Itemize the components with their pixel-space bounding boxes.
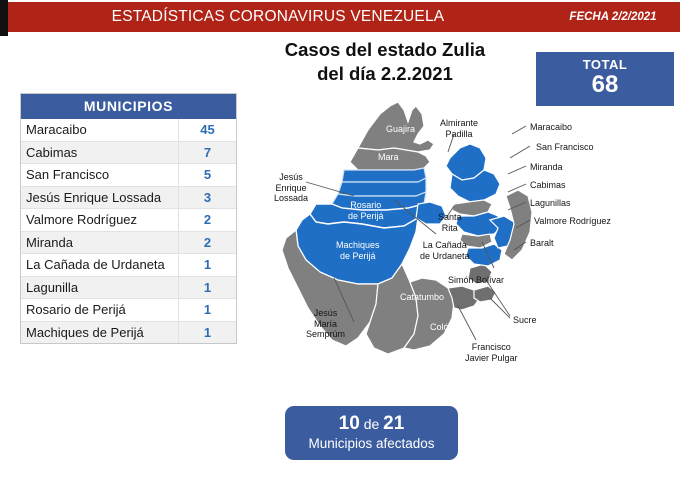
map-label: Almirante Padilla (440, 118, 478, 139)
municipio-count: 2 (178, 209, 236, 231)
affected-municipios-box: 10 de 21 Municipios afectados (285, 406, 458, 460)
map-label: Simón Bolívar (448, 275, 504, 286)
affected-caption: Municipios afectados (285, 435, 458, 453)
municipio-name: Maracaibo (21, 122, 178, 137)
municipio-count: 1 (178, 322, 236, 344)
table-row: San Francisco5 (21, 164, 236, 187)
municipio-count: 1 (178, 299, 236, 321)
municipio-count: 1 (178, 254, 236, 276)
leader-san-francisco (510, 146, 530, 158)
municipios-table-header: MUNICIPIOS (21, 94, 236, 119)
municipios-table-body: Maracaibo45Cabimas7San Francisco5Jesús E… (21, 119, 236, 343)
leader-maracaibo (512, 126, 526, 134)
table-row: Rosario de Perijá1 (21, 299, 236, 322)
municipio-name: Cabimas (21, 145, 178, 160)
municipio-name: Jesús Enrique Lossada (21, 190, 178, 205)
total-label: TOTAL (536, 57, 674, 72)
map-label: Jesús María Semprúm (306, 308, 345, 340)
region-sucre-b (474, 286, 496, 302)
municipio-name: San Francisco (21, 167, 178, 182)
municipio-name: Rosario de Perijá (21, 302, 178, 317)
page-title-line2: del día 2.2.2021 (240, 62, 530, 86)
banner-date: FECHA 2/2/2021 (553, 2, 673, 32)
map-label: Lagunillas (530, 198, 571, 209)
page-title-line1: Casos del estado Zulia (240, 38, 530, 62)
municipio-count: 7 (178, 142, 236, 164)
leader-francisco-javier-pulgar (458, 306, 476, 340)
table-row: Maracaibo45 (21, 119, 236, 142)
map-label: Baralt (530, 238, 554, 249)
affected-count: 10 (339, 413, 360, 434)
table-row: Valmore Rodríguez2 (21, 209, 236, 232)
municipio-count: 3 (178, 187, 236, 209)
zulia-map: GuajiraMaraRosario de PerijáMachiques de… (258, 100, 680, 390)
municipio-count: 45 (178, 119, 236, 141)
table-row: Cabimas7 (21, 142, 236, 165)
page-title: Casos del estado Zulia del día 2.2.2021 (240, 38, 530, 86)
leader-miranda (508, 166, 526, 174)
region-maracaibo (342, 168, 426, 182)
table-row: Jesús Enrique Lossada3 (21, 187, 236, 210)
total-value: 68 (536, 72, 674, 98)
table-row: La Cañada de Urdaneta1 (21, 254, 236, 277)
header-banner: ESTADÍSTICAS CORONAVIRUS VENEZUELA FECHA… (8, 2, 680, 32)
table-row: Miranda2 (21, 232, 236, 255)
municipio-name: La Cañada de Urdaneta (21, 257, 178, 272)
affected-de: de (360, 416, 383, 432)
map-label: Sucre (513, 315, 537, 326)
map-label: Jesús Enrique Lossada (274, 172, 308, 204)
map-label: Miranda (530, 162, 563, 173)
map-label: Mara (378, 152, 399, 163)
affected-count-line: 10 de 21 (285, 413, 458, 435)
map-label: Santa Rita (438, 212, 462, 233)
municipio-name: Lagunilla (21, 280, 178, 295)
map-label: Guajira (386, 124, 415, 135)
map-label: Maracaibo (530, 122, 572, 133)
left-black-edge (0, 0, 8, 36)
map-label: Rosario de Perijá (348, 200, 384, 221)
municipio-count: 2 (178, 232, 236, 254)
municipio-name: Miranda (21, 235, 178, 250)
map-label: San Francisco (536, 142, 594, 153)
map-label: Catatumbo (400, 292, 444, 303)
municipio-count: 5 (178, 164, 236, 186)
map-label: Cabimas (530, 180, 566, 191)
total-cases-box: TOTAL 68 (536, 52, 674, 106)
municipio-count: 1 (178, 277, 236, 299)
table-row: Lagunilla1 (21, 277, 236, 300)
map-label: Valmore Rodríguez (534, 216, 611, 227)
banner-title: ESTADÍSTICAS CORONAVIRUS VENEZUELA (8, 2, 548, 32)
map-label: Machiques de Perijá (336, 240, 380, 261)
map-label: La Cañada de Urdaneta (420, 240, 470, 261)
municipios-table: MUNICIPIOS Maracaibo45Cabimas7San Franci… (20, 93, 237, 344)
map-label: Francisco Javier Pulgar (465, 342, 518, 363)
municipio-name: Valmore Rodríguez (21, 212, 178, 227)
affected-total: 21 (383, 413, 404, 434)
map-label: Colón (430, 322, 454, 333)
municipio-name: Machiques de Perijá (21, 325, 178, 340)
table-row: Machiques de Perijá1 (21, 322, 236, 344)
